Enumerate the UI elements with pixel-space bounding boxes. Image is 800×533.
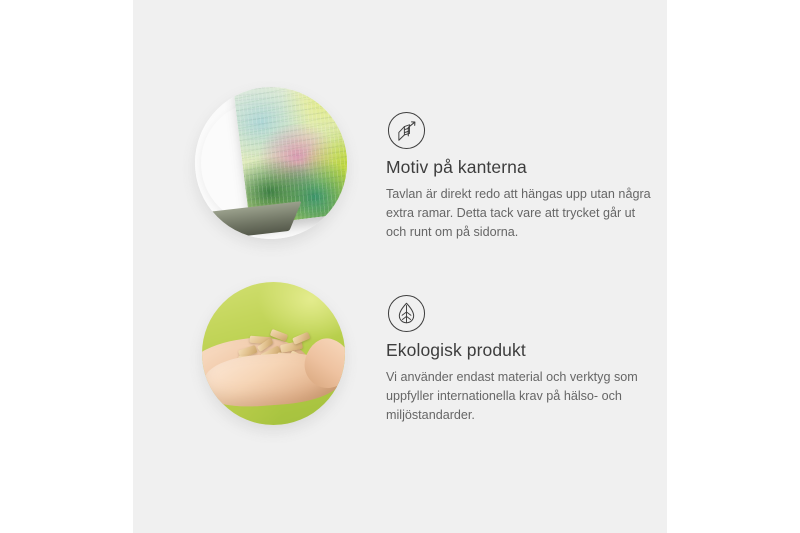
feature-title: Motiv på kanterna [386, 157, 658, 178]
feature-row-motiv-pa-kanterna: Motiv på kanterna Tavlan är direkt redo … [133, 75, 667, 255]
canvas-photo-scene [195, 87, 347, 239]
feature-body: Vi använder endast material och verktyg … [386, 368, 658, 425]
feature-text-block-2: Ekologisk produkt Vi använder endast mat… [386, 340, 658, 425]
canvas-wrap-edge-icon [387, 111, 426, 150]
feature-text-block-1: Motiv på kanterna Tavlan är direkt redo … [386, 157, 658, 242]
leaf-icon [387, 294, 426, 333]
canvas-print-corner-photo [195, 87, 347, 239]
hands-holding-wood-chips-photo [202, 282, 345, 425]
content-panel: Motiv på kanterna Tavlan är direkt redo … [133, 0, 667, 533]
screenshot-root: Motiv på kanterna Tavlan är direkt redo … [0, 0, 800, 533]
feature-body: Tavlan är direkt redo att hängas upp uta… [386, 185, 658, 242]
canvas-side-edge [195, 201, 302, 239]
feature-row-ekologisk-produkt: Ekologisk produkt Vi använder endast mat… [133, 258, 667, 438]
feature-title: Ekologisk produkt [386, 340, 658, 361]
eco-photo-scene [202, 282, 345, 425]
